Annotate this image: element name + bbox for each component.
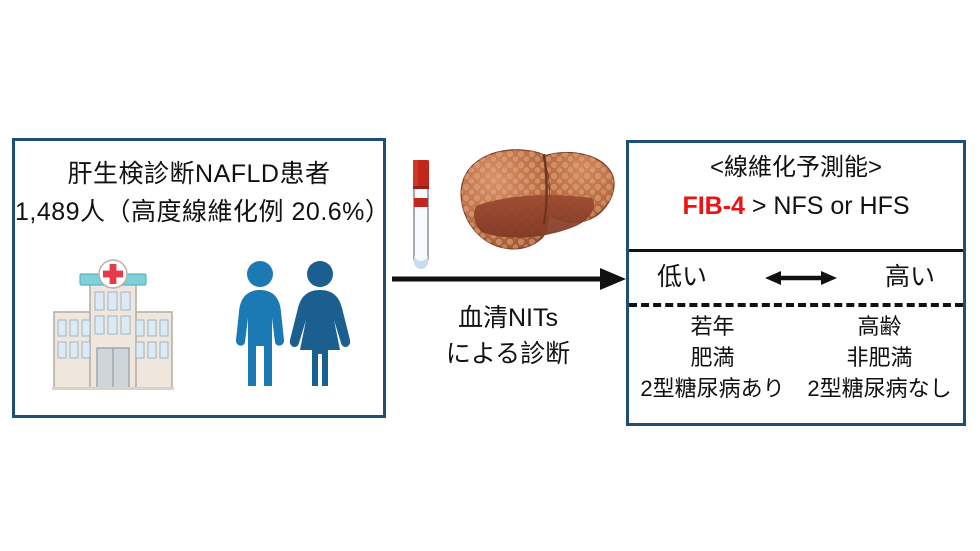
- fib4-label: FIB-4: [682, 192, 745, 220]
- male-figure-icon: [236, 261, 284, 386]
- divider-dashed: [629, 303, 963, 307]
- male-female-patients-icon: [232, 258, 354, 388]
- right-performance-panel: <線維化予測能> FIB-4 > NFS or HFS 低い 高い 若年 肥満 …: [626, 140, 966, 426]
- characteristics-columns: 若年 肥満 2型糖尿病あり 高齢 非肥満 2型糖尿病なし: [629, 311, 963, 421]
- cohort-title: 肝生検診断NAFLD患者: [15, 155, 383, 193]
- flow-caption-line2: による診断: [388, 336, 628, 372]
- cirrhotic-liver-icon: [452, 140, 620, 270]
- formula-rest: > NFS or HFS: [745, 192, 910, 220]
- scale-high-label: 高い: [885, 257, 935, 297]
- characteristic-line: 若年: [629, 311, 796, 342]
- characteristic-line: 2型糖尿病あり: [629, 373, 796, 404]
- right-arrow-icon: [390, 266, 626, 292]
- double-headed-arrow-icon: [765, 269, 837, 287]
- flow-caption-line1: 血清NITs: [388, 300, 628, 336]
- characteristic-line: 2型糖尿病なし: [796, 373, 963, 404]
- characteristics-column-high: 高齢 非肥満 2型糖尿病なし: [796, 311, 963, 421]
- diagram-canvas: 肝生検診断NAFLD患者 1,489人（高度線維化例 20.6%）: [0, 0, 980, 551]
- hospital-building-icon: [52, 254, 174, 394]
- female-figure-icon: [290, 261, 350, 386]
- scale-low-label: 低い: [657, 257, 707, 297]
- performance-formula: FIB-4 > NFS or HFS: [629, 189, 963, 223]
- divider-solid: [629, 249, 963, 252]
- characteristics-column-low: 若年 肥満 2型糖尿病あり: [629, 311, 796, 421]
- performance-scale: 低い 高い: [629, 255, 963, 301]
- characteristic-line: 非肥満: [796, 342, 963, 373]
- blood-collection-tube-icon: [408, 158, 434, 270]
- performance-title: <線維化予測能>: [629, 151, 963, 185]
- flow-caption: 血清NITs による診断: [388, 300, 628, 372]
- cohort-subtitle: 1,489人（高度線維化例 20.6%）: [15, 193, 383, 231]
- characteristic-line: 高齢: [796, 311, 963, 342]
- characteristic-line: 肥満: [629, 342, 796, 373]
